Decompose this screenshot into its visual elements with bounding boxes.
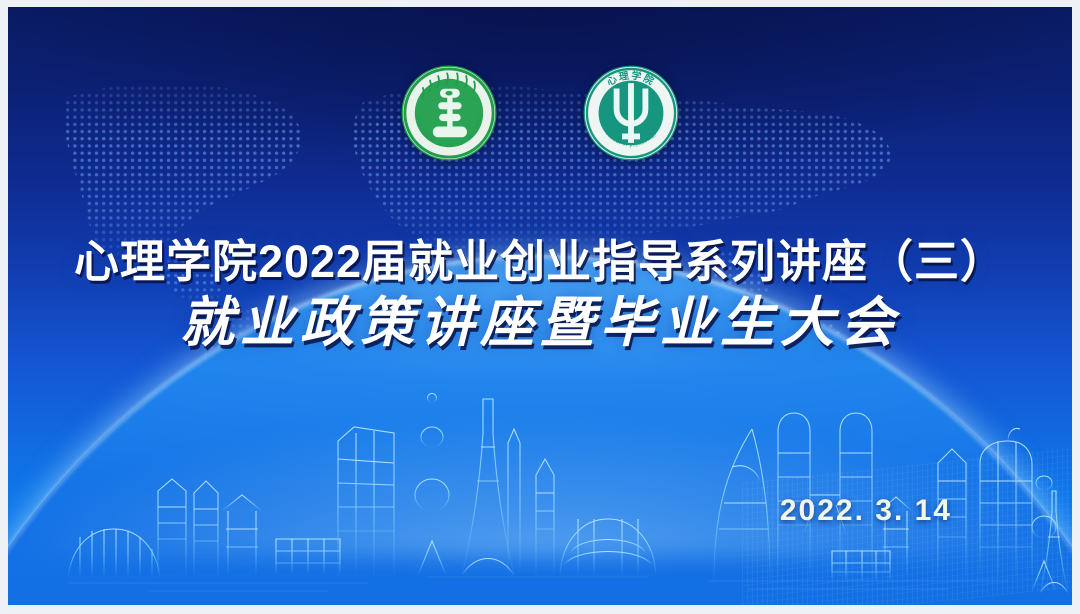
page-title-line-2: 就业政策讲座暨毕业生大会: [8, 292, 1072, 354]
poster-title-block: 心理学院2022届就业创业指导系列讲座（三） 就业政策讲座暨毕业生大会: [8, 235, 1072, 354]
page-title-line-1: 心理学院2022届就业创业指导系列讲座（三）: [8, 235, 1072, 288]
logo-row: INNER MONGOLIA NORMAL UNIVERSITY: [8, 59, 1072, 167]
inner-mongolia-normal-university-logo: INNER MONGOLIA NORMAL UNIVERSITY: [395, 59, 503, 167]
school-of-psychology-logo: 心理学院 School of psychology: [577, 59, 685, 167]
poster-outer-frame: INNER MONGOLIA NORMAL UNIVERSITY: [0, 0, 1080, 614]
wireframe-city-skyline-decoration: [8, 345, 1072, 605]
event-date: 2022. 3. 14: [780, 494, 952, 528]
poster-canvas: INNER MONGOLIA NORMAL UNIVERSITY: [8, 7, 1072, 605]
